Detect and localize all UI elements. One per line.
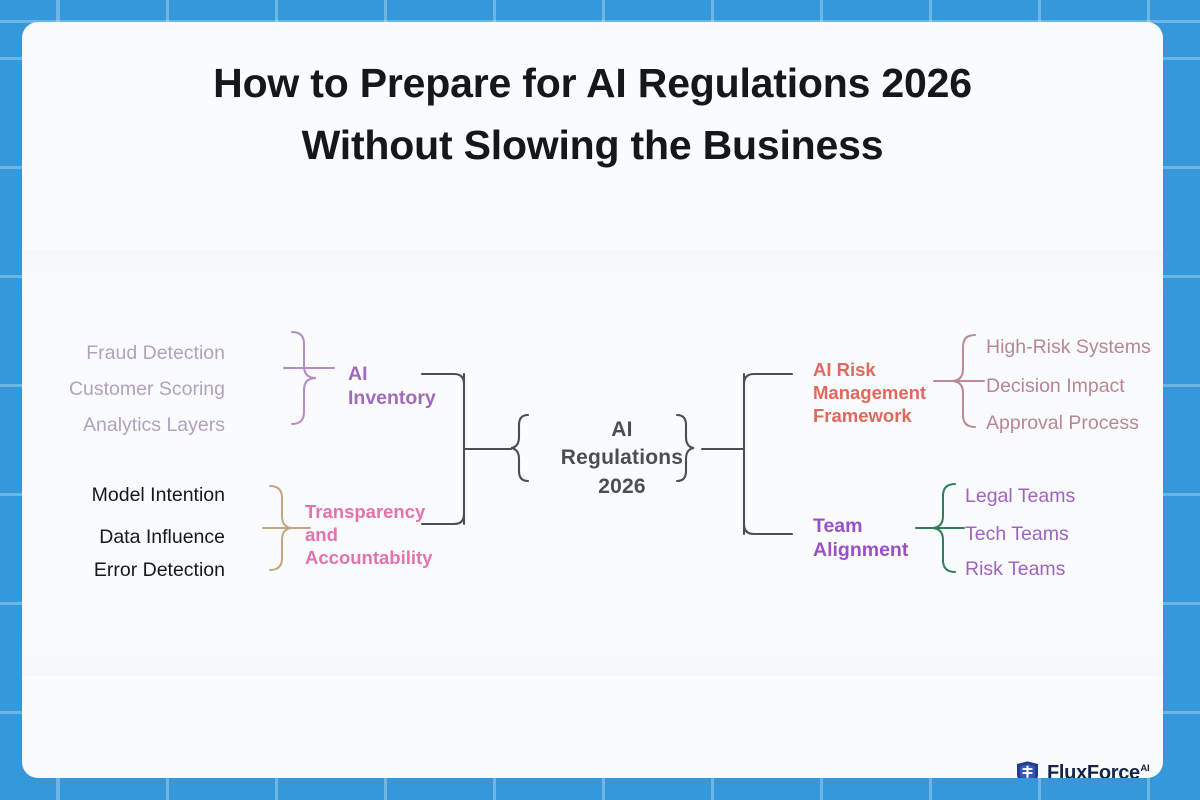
content-card: How to Prepare for AI Regulations 2026 W… — [22, 22, 1163, 778]
leaf-customer-scoring: Customer Scoring — [69, 380, 225, 400]
leaf-fraud-detection: Fraud Detection — [86, 344, 225, 364]
infographic-canvas: How to Prepare for AI Regulations 2026 W… — [0, 0, 1200, 800]
leaf-tech-teams: Tech Teams — [965, 525, 1069, 545]
leaf-model-intention: Model Intention — [92, 486, 225, 506]
leaf-decision-impact: Decision Impact — [986, 377, 1125, 397]
connector-wires — [22, 22, 1163, 778]
brand-logo: FluxForce AI — [1015, 760, 1149, 778]
wire-right-bottom-arm — [744, 524, 792, 534]
logo-name: FluxForce — [1047, 762, 1140, 778]
center-node: AI Regulations 2026 — [551, 416, 693, 501]
branch-node-team-alignment: Team Alignment — [813, 514, 933, 562]
leaf-approval-process: Approval Process — [986, 414, 1139, 434]
leaf-error-detection: Error Detection — [94, 561, 225, 581]
logo-superscript: AI — [1140, 763, 1149, 774]
leaf-high-risk-systems: High-Risk Systems — [986, 338, 1151, 358]
leaf-analytics-layers: Analytics Layers — [83, 416, 225, 436]
wire-right-top-arm — [744, 374, 792, 384]
leaf-data-influence: Data Influence — [99, 528, 225, 548]
center-brace-left — [511, 415, 528, 481]
leaf-risk-teams: Risk Teams — [965, 560, 1065, 580]
bracket-ai-inventory — [292, 332, 316, 424]
branch-node-ai-inventory: AI Inventory — [348, 362, 458, 410]
branch-node-transparency-accountability: Transparency and Accountability — [305, 501, 455, 570]
leaf-legal-teams: Legal Teams — [965, 487, 1075, 507]
branch-node-ai-risk-management-framework: AI Risk Management Framework — [813, 359, 945, 428]
mind-map: AI Regulations 2026 AI Inventory Fraud D… — [22, 22, 1163, 778]
shield-icon — [1015, 760, 1040, 778]
logo-wordmark: FluxForce AI — [1047, 762, 1149, 778]
